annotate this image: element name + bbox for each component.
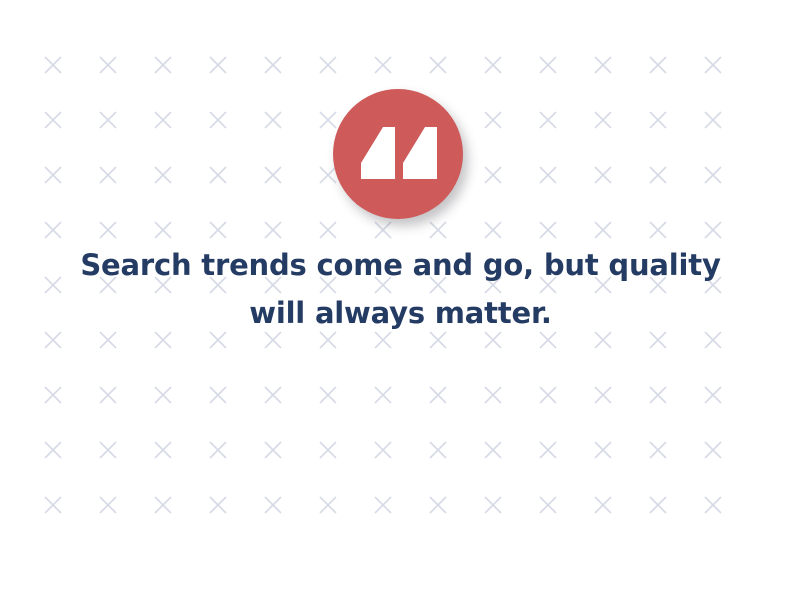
x-cross-icon xyxy=(430,387,446,403)
x-cross-icon xyxy=(375,222,391,238)
x-cross-icon xyxy=(375,497,391,513)
x-cross-icon xyxy=(155,497,171,513)
quote-card: Search trends come and go, but quality w… xyxy=(0,0,801,600)
x-cross-icon xyxy=(595,222,611,238)
x-cross-icon xyxy=(430,222,446,238)
x-cross-icon xyxy=(540,222,556,238)
x-cross-icon xyxy=(540,112,556,128)
x-cross-icon xyxy=(650,57,666,73)
x-cross-icon xyxy=(540,387,556,403)
x-cross-icon xyxy=(45,167,61,183)
x-cross-icon xyxy=(100,167,116,183)
x-cross-icon xyxy=(155,167,171,183)
x-cross-icon xyxy=(485,167,501,183)
x-cross-icon xyxy=(375,387,391,403)
x-cross-icon xyxy=(320,222,336,238)
quote-glyph-left xyxy=(361,127,395,179)
x-cross-icon xyxy=(375,442,391,458)
x-cross-icon xyxy=(540,167,556,183)
x-cross-icon xyxy=(320,112,336,128)
x-cross-icon xyxy=(705,167,721,183)
x-cross-icon xyxy=(705,497,721,513)
x-cross-icon xyxy=(265,167,281,183)
x-cross-icon xyxy=(45,112,61,128)
x-cross-icon xyxy=(650,387,666,403)
x-cross-icon xyxy=(100,442,116,458)
quote-badge xyxy=(333,89,463,219)
x-cross-icon xyxy=(265,222,281,238)
x-cross-icon xyxy=(155,112,171,128)
x-cross-icon xyxy=(265,387,281,403)
x-cross-icon xyxy=(430,497,446,513)
x-cross-icon xyxy=(155,442,171,458)
x-cross-icon xyxy=(650,112,666,128)
x-cross-icon xyxy=(650,497,666,513)
x-cross-icon xyxy=(100,387,116,403)
x-cross-icon xyxy=(100,222,116,238)
x-cross-icon xyxy=(485,112,501,128)
x-cross-icon xyxy=(45,222,61,238)
quote-text: Search trends come and go, but quality w… xyxy=(50,241,751,337)
x-cross-icon xyxy=(705,57,721,73)
x-cross-icon xyxy=(265,497,281,513)
x-cross-icon xyxy=(210,387,226,403)
x-cross-icon xyxy=(100,497,116,513)
quote-glyph-right xyxy=(403,127,437,179)
x-cross-icon xyxy=(595,387,611,403)
x-cross-icon xyxy=(210,222,226,238)
x-cross-icon xyxy=(320,167,336,183)
x-cross-icon xyxy=(430,442,446,458)
x-cross-icon xyxy=(265,57,281,73)
x-cross-icon xyxy=(155,57,171,73)
x-cross-icon xyxy=(705,387,721,403)
quotation-mark-icon xyxy=(359,125,437,181)
x-cross-icon xyxy=(210,497,226,513)
x-cross-icon xyxy=(485,222,501,238)
x-cross-icon xyxy=(595,167,611,183)
x-cross-icon xyxy=(45,387,61,403)
x-cross-icon xyxy=(320,387,336,403)
x-cross-icon xyxy=(595,497,611,513)
x-cross-icon xyxy=(595,442,611,458)
x-cross-icon xyxy=(320,442,336,458)
x-cross-icon xyxy=(650,222,666,238)
x-cross-icon xyxy=(210,442,226,458)
x-cross-icon xyxy=(485,497,501,513)
x-cross-icon xyxy=(540,57,556,73)
x-cross-icon xyxy=(705,442,721,458)
x-cross-icon xyxy=(45,442,61,458)
x-cross-icon xyxy=(210,112,226,128)
x-cross-icon xyxy=(485,442,501,458)
x-cross-icon xyxy=(210,167,226,183)
x-cross-icon xyxy=(265,442,281,458)
x-cross-icon xyxy=(375,57,391,73)
x-cross-icon xyxy=(705,222,721,238)
x-cross-icon xyxy=(595,112,611,128)
x-cross-icon xyxy=(485,387,501,403)
x-cross-icon xyxy=(705,112,721,128)
x-cross-icon xyxy=(265,112,281,128)
x-cross-icon xyxy=(540,442,556,458)
x-cross-icon xyxy=(100,57,116,73)
x-cross-icon xyxy=(540,497,556,513)
x-cross-icon xyxy=(650,167,666,183)
x-cross-icon xyxy=(430,57,446,73)
x-cross-icon xyxy=(210,57,226,73)
x-cross-icon xyxy=(320,497,336,513)
x-cross-icon xyxy=(155,222,171,238)
x-cross-icon xyxy=(155,387,171,403)
x-cross-icon xyxy=(45,57,61,73)
x-cross-icon xyxy=(485,57,501,73)
x-cross-icon xyxy=(320,57,336,73)
x-cross-icon xyxy=(100,112,116,128)
x-cross-icon xyxy=(45,497,61,513)
x-cross-icon xyxy=(650,442,666,458)
x-cross-icon xyxy=(595,57,611,73)
